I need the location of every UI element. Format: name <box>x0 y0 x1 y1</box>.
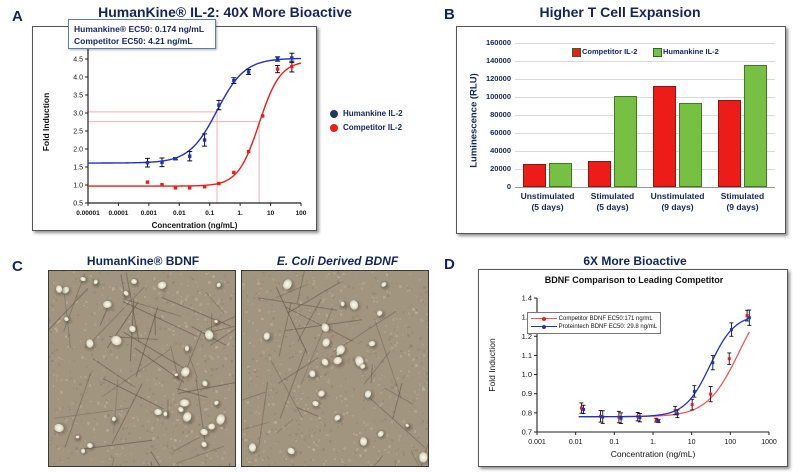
texture-speckle <box>257 279 259 281</box>
texture-speckle <box>149 388 152 391</box>
texture-speckle <box>351 395 353 397</box>
texture-speckle <box>118 413 120 415</box>
texture-speckle <box>232 345 234 347</box>
texture-speckle <box>244 360 245 361</box>
texture-speckle <box>104 415 107 418</box>
texture-speckle <box>147 420 150 423</box>
texture-speckle <box>215 354 216 355</box>
texture-speckle <box>266 438 267 439</box>
texture-speckle <box>416 398 417 399</box>
texture-speckle <box>289 345 291 347</box>
texture-speckle <box>385 292 386 293</box>
texture-speckle <box>294 360 295 361</box>
texture-speckle <box>153 422 156 425</box>
texture-speckle <box>384 418 387 421</box>
texture-speckle <box>163 305 164 306</box>
texture-speckle <box>132 288 134 290</box>
texture-speckle <box>306 354 308 356</box>
texture-speckle <box>407 420 408 421</box>
texture-speckle <box>157 436 159 438</box>
texture-speckle <box>73 346 75 348</box>
category-label-line: (9 days) <box>705 202 781 213</box>
texture-speckle <box>139 375 141 377</box>
texture-speckle <box>80 390 81 391</box>
texture-speckle <box>310 459 312 461</box>
texture-speckle <box>304 461 307 464</box>
texture-speckle <box>252 322 254 324</box>
texture-speckle <box>400 413 402 415</box>
texture-speckle <box>191 296 193 298</box>
texture-speckle <box>247 295 249 297</box>
texture-speckle <box>221 457 224 460</box>
texture-speckle <box>154 448 156 450</box>
texture-speckle <box>122 427 125 430</box>
texture-speckle <box>415 405 416 406</box>
texture-speckle <box>382 400 384 402</box>
texture-speckle <box>408 353 410 355</box>
texture-speckle <box>196 283 197 284</box>
texture-speckle <box>313 434 314 435</box>
texture-speckle <box>103 369 105 371</box>
svg-text:4.0: 4.0 <box>73 75 83 82</box>
texture-speckle <box>388 404 390 406</box>
texture-speckle <box>369 274 370 275</box>
texture-speckle <box>393 350 396 353</box>
texture-speckle <box>164 385 165 386</box>
texture-speckle <box>320 296 322 298</box>
texture-speckle <box>77 334 79 336</box>
texture-speckle <box>98 309 99 310</box>
texture-speckle <box>256 376 257 377</box>
texture-speckle <box>358 294 359 295</box>
texture-speckle <box>393 272 394 273</box>
texture-speckle <box>369 353 371 355</box>
texture-speckle <box>96 423 98 425</box>
texture-speckle <box>224 357 227 360</box>
texture-speckle <box>221 299 223 301</box>
texture-speckle <box>378 466 380 467</box>
texture-speckle <box>71 410 72 411</box>
texture-speckle <box>210 367 212 369</box>
texture-speckle <box>414 422 415 423</box>
texture-speckle <box>311 364 312 365</box>
texture-speckle <box>372 457 373 458</box>
texture-speckle <box>274 421 277 424</box>
texture-speckle <box>84 329 86 331</box>
texture-speckle <box>358 412 359 413</box>
texture-speckle <box>52 342 53 343</box>
texture-speckle <box>358 284 359 285</box>
texture-speckle <box>249 439 251 441</box>
texture-speckle <box>373 443 375 445</box>
texture-speckle <box>373 374 376 377</box>
texture-speckle <box>398 448 399 449</box>
texture-speckle <box>424 303 426 305</box>
texture-speckle <box>266 291 268 293</box>
texture-speckle <box>196 363 199 366</box>
texture-speckle <box>381 374 383 376</box>
texture-speckle <box>216 455 218 457</box>
svg-text:1.5: 1.5 <box>73 165 83 172</box>
texture-speckle <box>420 377 421 378</box>
texture-speckle <box>423 367 424 368</box>
texture-speckle <box>268 354 271 357</box>
texture-speckle <box>274 350 276 352</box>
texture-speckle <box>317 425 318 426</box>
texture-speckle <box>359 275 360 276</box>
texture-speckle <box>374 438 375 439</box>
gridline <box>515 79 775 80</box>
texture-speckle <box>283 403 284 404</box>
texture-speckle <box>391 347 393 349</box>
texture-speckle <box>85 366 88 369</box>
svg-text:100: 100 <box>296 210 307 217</box>
texture-speckle <box>175 424 178 427</box>
texture-speckle <box>414 367 415 368</box>
texture-speckle <box>402 451 405 454</box>
texture-speckle <box>370 427 373 430</box>
texture-speckle <box>272 462 273 463</box>
texture-speckle <box>220 315 222 317</box>
svg-text:3.5: 3.5 <box>73 93 83 100</box>
texture-speckle <box>269 275 272 278</box>
texture-speckle <box>404 442 406 444</box>
svg-text:0.9: 0.9 <box>522 389 532 398</box>
texture-speckle <box>282 451 283 452</box>
texture-speckle <box>206 408 208 410</box>
texture-speckle <box>397 326 399 328</box>
texture-speckle <box>226 355 229 358</box>
texture-speckle <box>253 345 255 347</box>
texture-speckle <box>407 434 409 436</box>
texture-speckle <box>208 281 211 284</box>
texture-speckle <box>376 425 378 427</box>
texture-speckle <box>90 366 91 367</box>
panel-d-legend-label-proteintech: Proteintech BDNF EC50: 29.8 ng/mL <box>559 324 657 330</box>
texture-speckle <box>217 356 219 358</box>
texture-speckle <box>120 405 122 407</box>
texture-speckle <box>247 405 248 406</box>
texture-speckle <box>135 359 137 361</box>
texture-speckle <box>248 461 250 463</box>
texture-speckle <box>87 307 88 308</box>
texture-speckle <box>272 388 274 390</box>
texture-speckle <box>206 321 208 323</box>
texture-speckle <box>268 311 270 313</box>
texture-speckle <box>53 463 55 465</box>
micrograph-ecoli-bdnf <box>241 270 429 467</box>
texture-speckle <box>137 419 139 421</box>
texture-speckle <box>50 439 53 442</box>
texture-speckle <box>283 430 284 431</box>
texture-speckle <box>376 301 378 303</box>
texture-speckle <box>62 406 64 408</box>
texture-speckle <box>410 409 412 411</box>
texture-speckle <box>248 401 249 402</box>
texture-speckle <box>69 379 71 381</box>
texture-speckle <box>200 389 202 391</box>
texture-speckle <box>255 299 256 300</box>
texture-speckle <box>314 337 315 338</box>
texture-speckle <box>186 295 189 298</box>
texture-speckle <box>146 281 147 282</box>
texture-speckle <box>52 309 54 311</box>
texture-speckle <box>417 403 418 404</box>
texture-speckle <box>286 340 287 341</box>
texture-speckle <box>161 422 163 424</box>
texture-speckle <box>262 351 265 354</box>
texture-speckle <box>81 420 83 422</box>
texture-speckle <box>292 464 294 466</box>
texture-speckle <box>111 447 113 449</box>
svg-text:10: 10 <box>688 439 696 446</box>
texture-speckle <box>138 288 139 289</box>
texture-speckle <box>147 414 148 415</box>
texture-speckle <box>160 424 161 425</box>
texture-speckle <box>407 375 410 378</box>
texture-speckle <box>198 424 201 427</box>
texture-speckle <box>333 448 335 450</box>
texture-speckle <box>178 463 181 466</box>
texture-speckle <box>346 405 348 407</box>
texture-speckle <box>166 381 167 382</box>
texture-speckle <box>255 411 257 413</box>
texture-speckle <box>265 300 267 302</box>
texture-speckle <box>218 411 219 412</box>
texture-speckle <box>340 295 341 296</box>
texture-speckle <box>352 277 354 279</box>
svg-text:0.00001: 0.00001 <box>76 210 100 217</box>
texture-speckle <box>104 441 106 443</box>
texture-speckle <box>169 354 171 356</box>
texture-speckle <box>99 272 101 274</box>
svg-text:0.1: 0.1 <box>205 210 214 217</box>
texture-speckle <box>246 308 248 310</box>
texture-speckle <box>338 272 340 274</box>
texture-speckle <box>294 382 296 384</box>
texture-speckle <box>263 380 264 381</box>
texture-speckle <box>246 311 248 313</box>
texture-speckle <box>193 317 195 319</box>
texture-speckle <box>171 411 174 414</box>
texture-speckle <box>331 319 333 321</box>
texture-speckle <box>195 353 197 355</box>
texture-speckle <box>92 374 93 375</box>
texture-speckle <box>348 362 349 363</box>
panel-c-image-1-title-text: HumanKine® BDNF <box>87 254 199 268</box>
texture-speckle <box>311 435 313 437</box>
legend-swatch-competitor <box>572 48 581 57</box>
x-axis <box>515 187 775 188</box>
texture-speckle <box>408 312 410 314</box>
texture-speckle <box>125 438 127 440</box>
texture-speckle <box>309 310 311 312</box>
texture-speckle <box>322 300 324 302</box>
texture-speckle <box>179 452 180 453</box>
texture-speckle <box>367 461 370 464</box>
texture-speckle <box>92 377 93 378</box>
texture-speckle <box>145 288 147 290</box>
texture-speckle <box>151 296 153 298</box>
texture-speckle <box>128 320 131 323</box>
texture-speckle <box>165 334 166 335</box>
texture-speckle <box>180 300 183 303</box>
texture-speckle <box>76 454 77 455</box>
texture-speckle <box>272 403 274 405</box>
texture-speckle <box>320 422 321 423</box>
texture-speckle <box>185 298 188 301</box>
texture-speckle <box>307 408 309 410</box>
texture-speckle <box>298 282 299 283</box>
texture-speckle <box>155 445 156 446</box>
texture-speckle <box>117 466 118 467</box>
texture-speckle <box>259 368 260 369</box>
texture-speckle <box>329 292 331 294</box>
texture-speckle <box>75 423 76 424</box>
texture-speckle <box>282 324 284 326</box>
texture-speckle <box>326 275 328 277</box>
texture-speckle <box>212 275 215 278</box>
texture-speckle <box>79 466 80 467</box>
texture-speckle <box>381 368 382 369</box>
texture-speckle <box>61 359 62 360</box>
texture-speckle <box>334 458 336 460</box>
panel-a-letter: A <box>12 8 23 25</box>
texture-speckle <box>381 349 382 350</box>
texture-speckle <box>374 440 376 442</box>
texture-speckle <box>128 380 130 382</box>
texture-speckle <box>355 452 358 455</box>
texture-speckle <box>185 435 188 438</box>
texture-speckle <box>406 329 407 330</box>
cell-body <box>131 279 138 284</box>
texture-speckle <box>309 323 311 325</box>
texture-speckle <box>49 324 50 325</box>
texture-speckle <box>384 454 386 456</box>
texture-speckle <box>373 379 376 382</box>
texture-speckle <box>50 304 53 307</box>
texture-speckle <box>170 329 171 330</box>
svg-text:2.0: 2.0 <box>73 147 83 154</box>
texture-speckle <box>158 368 161 371</box>
texture-speckle <box>136 352 137 353</box>
cell-body <box>74 435 79 439</box>
texture-speckle <box>130 370 132 372</box>
texture-speckle <box>136 417 138 419</box>
texture-speckle <box>163 444 165 446</box>
texture-speckle <box>228 455 230 457</box>
texture-speckle <box>172 419 174 421</box>
texture-speckle <box>143 462 145 464</box>
svg-text:2.5: 2.5 <box>73 129 83 136</box>
texture-speckle <box>121 370 123 372</box>
texture-speckle <box>295 320 297 322</box>
texture-speckle <box>246 286 248 288</box>
texture-speckle <box>119 299 120 300</box>
texture-speckle <box>421 319 424 322</box>
texture-speckle <box>281 305 283 307</box>
texture-speckle <box>421 390 422 391</box>
texture-speckle <box>67 457 70 460</box>
texture-speckle <box>275 466 277 467</box>
texture-speckle <box>141 425 143 427</box>
texture-speckle <box>233 337 235 339</box>
texture-speckle <box>124 400 126 402</box>
texture-speckle <box>58 398 59 399</box>
texture-speckle <box>213 295 215 297</box>
texture-speckle <box>416 296 417 297</box>
texture-speckle <box>391 421 393 423</box>
texture-speckle <box>268 403 271 406</box>
texture-speckle <box>119 453 122 456</box>
texture-speckle <box>382 389 384 391</box>
texture-speckle <box>271 380 272 381</box>
texture-speckle <box>146 410 148 412</box>
texture-speckle <box>201 344 204 347</box>
texture-speckle <box>86 392 88 394</box>
texture-speckle <box>94 410 95 411</box>
texture-speckle <box>181 462 183 464</box>
texture-speckle <box>85 301 87 303</box>
texture-speckle <box>384 376 386 378</box>
texture-speckle <box>347 380 349 382</box>
panel-a-plot: 0.51.01.52.02.53.03.54.04.55.00.000010.0… <box>33 27 318 232</box>
panel-d-legend-item-competitor: Competitor BDNF EC50:171 ng/mL <box>531 315 657 323</box>
texture-speckle <box>59 407 62 410</box>
texture-speckle <box>396 318 398 320</box>
texture-speckle <box>409 306 411 308</box>
texture-speckle <box>126 461 128 463</box>
texture-speckle <box>75 447 78 450</box>
texture-speckle <box>90 458 92 460</box>
texture-speckle <box>157 385 158 386</box>
texture-speckle <box>247 300 249 302</box>
texture-speckle <box>146 452 149 455</box>
texture-speckle <box>343 285 346 288</box>
texture-speckle <box>300 398 303 401</box>
texture-speckle <box>426 372 429 375</box>
texture-speckle <box>223 466 225 467</box>
texture-speckle <box>295 352 298 355</box>
texture-speckle <box>267 369 269 371</box>
texture-speckle <box>248 372 250 374</box>
texture-speckle <box>343 311 344 312</box>
texture-speckle <box>194 448 197 451</box>
texture-speckle <box>391 283 392 284</box>
texture-speckle <box>308 352 309 353</box>
texture-speckle <box>164 395 166 397</box>
y-tick-label: 160000 <box>463 38 511 47</box>
texture-speckle <box>412 308 415 311</box>
texture-speckle <box>318 419 320 421</box>
texture-speckle <box>297 386 298 387</box>
svg-text:0.001: 0.001 <box>141 210 158 217</box>
texture-speckle <box>293 344 294 345</box>
texture-speckle <box>295 273 297 275</box>
texture-speckle <box>90 401 91 402</box>
texture-speckle <box>168 375 170 377</box>
texture-speckle <box>396 283 398 285</box>
texture-speckle <box>404 405 405 406</box>
panel-b-title: Higher T Cell Expansion <box>470 4 770 20</box>
texture-speckle <box>252 358 254 360</box>
texture-speckle <box>109 464 110 465</box>
texture-speckle <box>359 432 361 434</box>
texture-speckle <box>325 278 326 279</box>
texture-speckle <box>264 440 267 443</box>
texture-speckle <box>333 272 336 275</box>
texture-speckle <box>185 445 187 447</box>
